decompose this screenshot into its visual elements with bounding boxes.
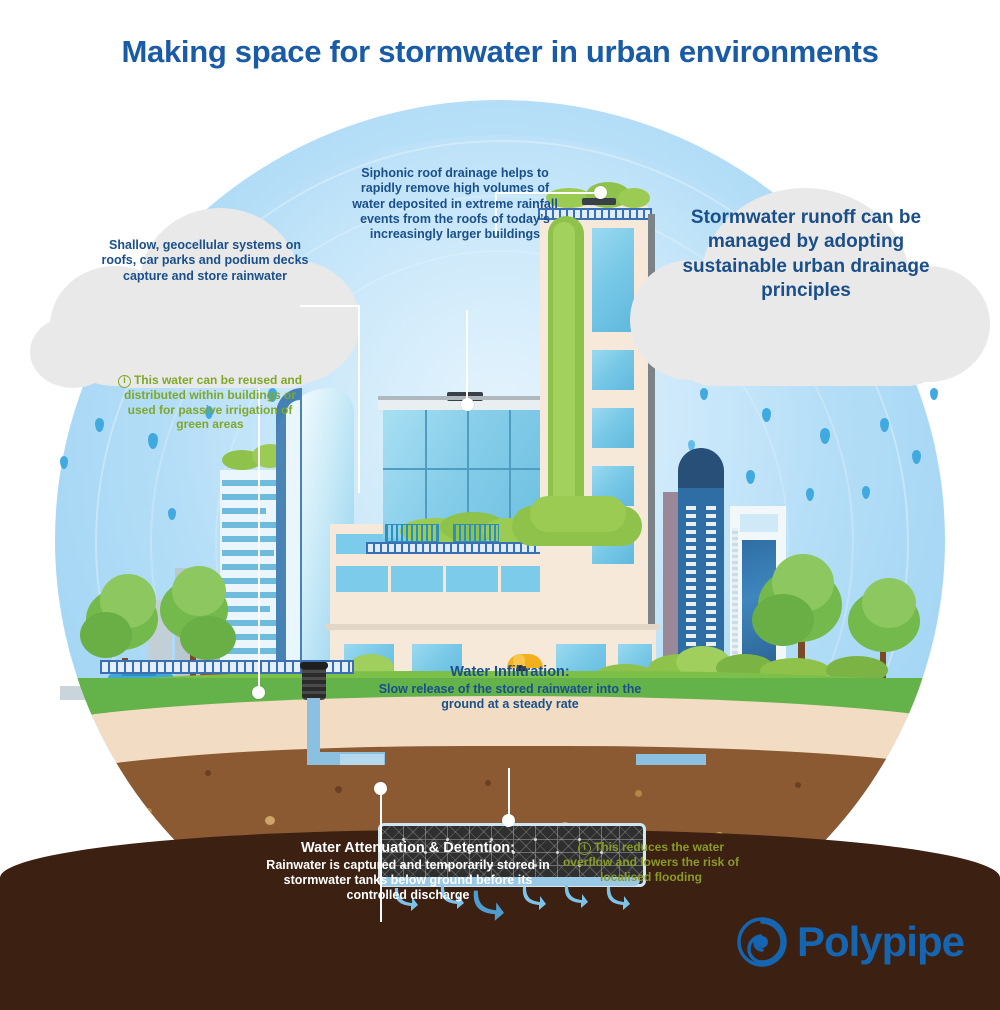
callout-dot-reuse [252, 686, 265, 699]
illustration-stage: Shallow, geocellular systems on roofs, c… [0, 88, 1000, 1000]
tank-outlet-pipe [636, 754, 706, 765]
callout-overflow: iThis reduces the water overflow and low… [556, 840, 746, 884]
callout-infiltration-body: Slow release of the stored rainwater int… [378, 682, 642, 713]
infiltration-arrow [562, 883, 588, 909]
page-title: Making space for stormwater in urban env… [0, 34, 1000, 70]
infiltration-arrow [604, 885, 630, 911]
inspection-chamber [302, 666, 326, 700]
callout-reuse: iThis water can be reused and distribute… [110, 373, 310, 432]
leader-line [508, 768, 510, 820]
soil-pebble [865, 812, 873, 819]
soil-pebble [145, 808, 152, 814]
downpipe-vertical [307, 698, 320, 760]
soil-pebble [265, 816, 275, 825]
polypipe-swirl-icon [736, 916, 788, 968]
soil-pebble [485, 780, 491, 786]
leader-line [258, 388, 260, 694]
soil-pebble [795, 782, 801, 788]
callout-dot-siphonic-central [461, 398, 474, 411]
brand-name: Polypipe [797, 918, 964, 966]
soil-pebble [205, 770, 211, 776]
info-icon: i [118, 375, 131, 388]
soil-pebble [75, 776, 84, 784]
chamber-cap [300, 662, 328, 669]
callout-geocellular: Shallow, geocellular systems on roofs, c… [98, 238, 312, 284]
brand-logo: Polypipe [736, 916, 964, 968]
leader-line [358, 305, 360, 493]
callout-infiltration-title: Water Infiltration: [378, 664, 642, 682]
infographic-root: Making space for stormwater in urban env… [0, 0, 1000, 1000]
callout-infiltration: Water Infiltration: Slow release of the … [378, 664, 642, 712]
cloud-left [30, 208, 360, 388]
callout-attenuation-body: Rainwater is captured and temporarily st… [258, 858, 558, 904]
leader-line [466, 310, 468, 410]
callout-dot-siphonic-tower [594, 186, 607, 199]
leader-line [300, 305, 360, 307]
soil-pebble [635, 790, 642, 797]
headline-text: Stormwater runoff can be managed by adop… [666, 206, 946, 303]
callout-dot-attenuation [374, 782, 387, 795]
callout-reuse-text: This water can be reused and distributed… [124, 373, 302, 431]
raindrop [930, 388, 938, 400]
callout-attenuation-title: Water Attenuation & Detention: [258, 840, 558, 858]
soil-pebble [335, 786, 342, 793]
tank-inlet-pipe [340, 754, 384, 765]
callout-attenuation: Water Attenuation & Detention: Rainwater… [258, 840, 558, 903]
callout-dot-infiltration [502, 814, 515, 827]
info-icon: i [578, 842, 591, 855]
callout-siphonic: Siphonic roof drainage helps to rapidly … [345, 166, 565, 242]
